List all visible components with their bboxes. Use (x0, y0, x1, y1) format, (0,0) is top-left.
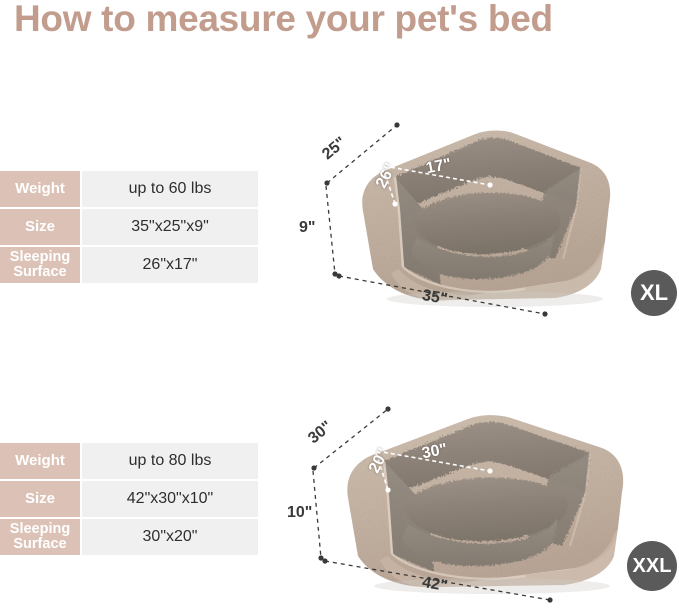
dimension-guides-xl (300, 104, 679, 329)
table-row: Size 42"x30"x10" (0, 481, 258, 517)
guide-height (326, 186, 335, 274)
size-badge-xxl: XXL (627, 541, 677, 591)
spec-label-size: Size (0, 209, 80, 245)
spec-label-line1: Sleeping (10, 249, 70, 265)
spec-value-sleeping-surface: 30"x20" (82, 519, 258, 555)
spec-value-weight: up to 80 lbs (82, 443, 258, 479)
spec-label-sleeping-surface: Sleeping Surface (0, 247, 80, 283)
table-row: Weight up to 60 lbs (0, 171, 258, 207)
table-row: Size 35"x25"x9" (0, 209, 258, 245)
page-title: How to measure your pet's bed (14, 0, 674, 40)
spec-value-sleeping-surface: 26"x17" (82, 247, 258, 283)
spec-label-weight: Weight (0, 171, 80, 207)
dim-height-xxl: 10" (287, 504, 312, 522)
spec-label-line2: Surface (13, 536, 66, 552)
spec-value-weight: up to 60 lbs (82, 171, 258, 207)
spec-label-sleeping-surface: Sleeping Surface (0, 519, 80, 555)
spec-label-weight: Weight (0, 443, 80, 479)
table-row: Weight up to 80 lbs (0, 443, 258, 479)
dimension-guides-xxl (292, 386, 679, 614)
table-row: Sleeping Surface 26"x17" (0, 247, 258, 283)
spec-label-line2: Surface (13, 264, 66, 280)
table-row: Sleeping Surface 30"x20" (0, 519, 258, 555)
guide-height (313, 471, 321, 558)
spec-label-line1: Sleeping (10, 521, 70, 537)
bed-illustration-xl: 25" 9" 35" 26" 17" (300, 104, 679, 329)
dim-height-xl: 9" (299, 219, 315, 237)
spec-label-size: Size (0, 481, 80, 517)
spec-table-xl: Weight up to 60 lbs Size 35"x25"x9" Slee… (0, 171, 258, 283)
spec-value-size: 42"x30"x10" (82, 481, 258, 517)
size-badge-xl: XL (631, 270, 677, 316)
bed-illustration-xxl: 30" 10" 42" 20" 30" (292, 386, 679, 614)
spec-value-size: 35"x25"x9" (82, 209, 258, 245)
spec-table-xxl: Weight up to 80 lbs Size 42"x30"x10" Sle… (0, 443, 258, 555)
